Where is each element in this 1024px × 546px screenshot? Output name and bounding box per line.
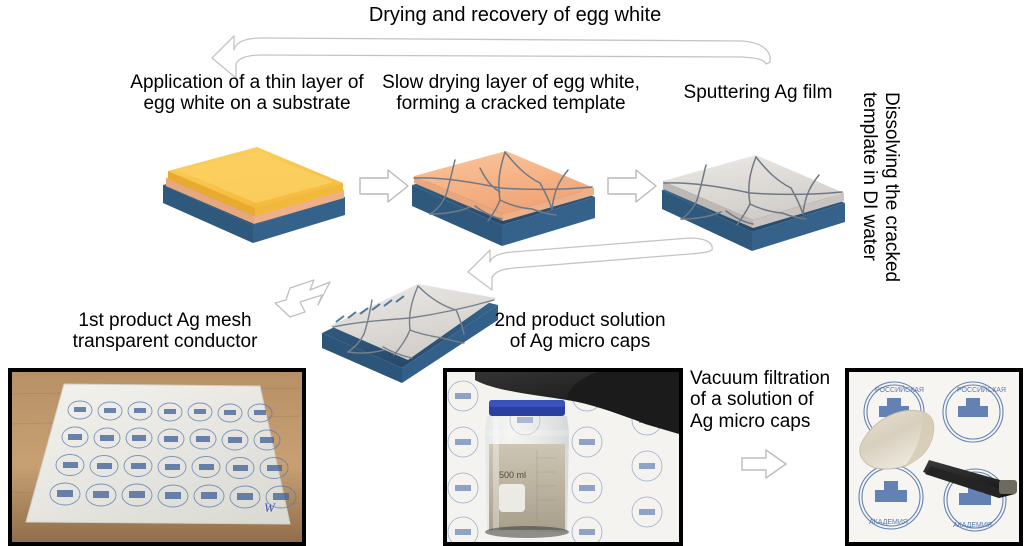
label-vacuum-filtration: Vacuum filtration of a solution of Ag mi… bbox=[690, 368, 840, 432]
label-product-1: 1st product Ag mesh transparent conducto… bbox=[45, 310, 285, 353]
slab-cracked-template bbox=[412, 151, 595, 246]
label-product-2: 2nd product solution of Ag micro caps bbox=[480, 310, 680, 353]
emblem-text-bottom-2: АКАДЕМИЯ bbox=[953, 522, 992, 529]
jar-volume-label: 500 ml bbox=[499, 470, 526, 480]
title-drying-recovery: Drying and recovery of egg white bbox=[330, 4, 700, 26]
emblem-text-bottom: АКАДЕМИЯ bbox=[869, 519, 908, 526]
emblem-text-top: РОССИЙСКАЯ bbox=[875, 385, 924, 394]
filtered-membrane-photo: РОССИЙСКАЯ РОССИЙСКАЯ АКАДЕМИЯ АКАДЕМИЯ bbox=[845, 368, 1023, 546]
ag-micro-caps-solution-photo: 500 ml bbox=[443, 368, 683, 546]
arrow-step1-to-step2 bbox=[360, 170, 408, 202]
slab-egg-white-layer bbox=[163, 147, 345, 243]
ag-mesh-transparent-conductor-photo: W bbox=[8, 368, 306, 546]
label-dissolving-template: Dissolving the cracked template in DI wa… bbox=[858, 92, 902, 342]
arrow-step2-to-step3 bbox=[608, 170, 656, 202]
step-label-application: Application of a thin layer of egg white… bbox=[122, 72, 372, 115]
arrow-dissolve-return bbox=[468, 238, 712, 290]
slab-ag-film bbox=[662, 155, 845, 251]
process-diagram: Drying and recovery of egg white Applica… bbox=[0, 0, 1024, 545]
step-label-sputtering: Sputtering Ag film bbox=[668, 82, 848, 103]
step-label-slow-drying: Slow drying layer of egg white, forming … bbox=[380, 72, 642, 115]
emblem-text-top-2: РОССИЙСКАЯ bbox=[957, 385, 1006, 394]
arrow-to-filtration bbox=[742, 450, 786, 478]
